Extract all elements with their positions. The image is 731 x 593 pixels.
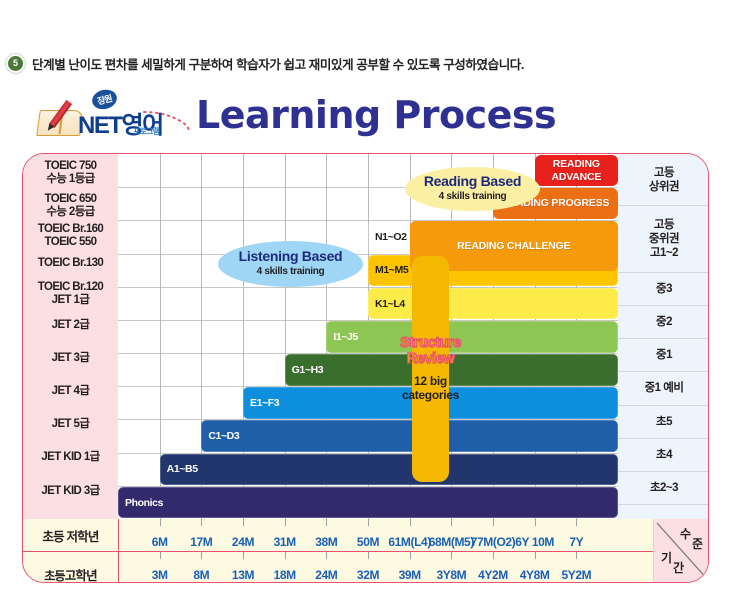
- x-axis-rows: 초등 저학년 6M17M24M31M38M50M61M(L4)68M(M5)77…: [23, 519, 709, 583]
- right-axis-label-5: 중1: [618, 338, 709, 371]
- left-axis-label-line: JET 4급: [52, 385, 90, 398]
- left-axis-label-line: TOEIC Br.130: [38, 257, 103, 270]
- notice-bar: 5 단계별 난이도 편차를 세밀하게 구분하여 학습자가 쉽고 재미있게 공부할…: [0, 48, 731, 78]
- chart-bar-a1-b5[interactable]: A1~B5: [160, 454, 618, 486]
- chart-bar-c1-d3[interactable]: C1~D3: [201, 420, 618, 452]
- notice-text: 단계별 난이도 편차를 세밀하게 구분하여 학습자가 쉽고 재미있게 공부할 수…: [32, 54, 524, 73]
- chart-bar-label: C1~D3: [201, 430, 239, 442]
- axis-tick: [576, 519, 577, 526]
- axis-tick: [160, 519, 161, 526]
- bubble-subtitle: 4 skills training: [257, 264, 325, 279]
- right-axis-labels: 고등상위권고등중위권고1~2중3중2중1중1 예비초5초4초2~3초1: [618, 154, 709, 519]
- axis-tick: [368, 552, 369, 559]
- right-axis-label-4: 중2: [618, 305, 709, 338]
- chart-bar-label: N1~O2: [368, 231, 407, 243]
- axis-tick: [451, 519, 452, 526]
- corner-label-gi: 기: [661, 549, 672, 566]
- left-axis-label-line: JET 1급: [52, 294, 90, 307]
- structure-review-title-line1: Structure: [400, 335, 461, 351]
- learning-process-chart: TOEIC 750수능 1등급TOEIC 650수능 2등급TOEIC Br.1…: [22, 153, 709, 583]
- title-bar: 장원 NET영어 프로그램 Learning Process: [0, 88, 731, 146]
- right-axis-label-line: 상위권: [649, 180, 679, 194]
- structure-review-title: StructureReview: [400, 335, 461, 367]
- right-axis-label-6: 중1 예비: [618, 371, 709, 404]
- chart-bar-label: E1~F3: [243, 397, 279, 409]
- left-axis-label-6: JET 2급: [23, 309, 118, 341]
- left-axis-labels: TOEIC 750수능 1등급TOEIC 650수능 2등급TOEIC Br.1…: [23, 154, 118, 519]
- left-axis-label-5: TOEIC Br.120JET 1급: [23, 278, 118, 310]
- structure-review-subtitle-line2: categories: [402, 388, 459, 402]
- corner-label-su: 수: [680, 525, 691, 542]
- right-axis-label-8: 초4: [618, 438, 709, 471]
- right-axis-label-1: 고등상위권: [618, 154, 709, 205]
- right-axis-label-line: 고1~2: [650, 246, 678, 260]
- left-axis-label-line: TOEIC 650: [45, 193, 97, 206]
- reading-block-reading-advance[interactable]: READINGADVANCE: [535, 155, 618, 186]
- x-axis-row-lower-elementary: 초등 저학년 6M17M24M31M38M50M61M(L4)68M(M5)77…: [23, 519, 709, 551]
- logo-net-text: NET: [78, 112, 122, 139]
- chart-bar-k1-l4[interactable]: K1~L4: [368, 288, 618, 320]
- axis-tick: [201, 552, 202, 559]
- left-axis-label-8: JET 4급: [23, 376, 118, 408]
- structure-review-subtitle-line1: 12 big: [414, 374, 447, 388]
- left-axis-label-11: JET KID 3급: [23, 475, 118, 507]
- right-axis-label-line: 초5: [656, 415, 672, 429]
- axis-tick: [243, 552, 244, 559]
- axis-value-r2-c11: 5Y2M: [543, 559, 609, 583]
- structure-review-subtitle: 12 bigcategories: [402, 374, 459, 402]
- axis-tick: [285, 519, 286, 526]
- bubble-title: Listening Based: [239, 249, 343, 264]
- axis-tick: [535, 519, 536, 526]
- right-axis-label-line: 고등: [654, 218, 674, 232]
- axis-tick: [243, 519, 244, 526]
- left-axis-label-line: TOEIC Br.120: [38, 281, 103, 294]
- left-axis-label-line: JET KID 1급: [41, 451, 99, 464]
- right-axis-label-line: 중2: [656, 315, 672, 329]
- chart-bar-label: M1~M5: [368, 264, 408, 276]
- left-axis-label-line: TOEIC 750: [45, 160, 97, 173]
- axis-row-label-2: 초등고학년: [23, 552, 118, 583]
- right-axis-label-line: 중1 예비: [645, 381, 684, 395]
- right-axis-label-line: 중3: [656, 282, 672, 296]
- axis-tick: [160, 552, 161, 559]
- chart-bar-label: K1~L4: [368, 298, 405, 310]
- left-axis-label-4: TOEIC Br.130: [23, 248, 118, 280]
- axis-tick: [493, 519, 494, 526]
- axis-tick: [326, 552, 327, 559]
- listening-based-bubble: Listening Based4 skills training: [218, 241, 363, 287]
- x-axis-row-upper-elementary: 초등고학년 3M8M13M18M24M32M39M3Y8M4Y2M4Y8M5Y2…: [23, 551, 709, 583]
- right-axis-label-3: 중3: [618, 272, 709, 305]
- axis-separator: [118, 552, 119, 583]
- left-axis-label-line: JET 5급: [52, 418, 90, 431]
- axis-tick: [368, 519, 369, 526]
- right-axis-label-line: 초2~3: [650, 481, 678, 495]
- chart-bar-label: Phonics: [118, 497, 163, 509]
- axis-tick: [285, 552, 286, 559]
- reading-based-bubble: Reading Based4 skills training: [405, 167, 540, 211]
- left-axis-label-10: JET KID 1급: [23, 442, 118, 474]
- left-axis-label-line: JET 2급: [52, 319, 90, 332]
- axis-tick: [326, 519, 327, 526]
- left-axis-label-9: JET 5급: [23, 409, 118, 441]
- right-axis-label-2: 고등중위권고1~2: [618, 205, 709, 271]
- corner-label-jun: 준: [692, 535, 703, 552]
- chart-bar-label: G1~H3: [285, 364, 324, 376]
- right-axis-label-line: 초4: [656, 448, 672, 462]
- chart-bar-i1-j5[interactable]: I1~J5: [326, 321, 618, 353]
- axis-row-label-2-line2: 고학년: [65, 565, 97, 583]
- corner-label-gan: 간: [673, 559, 684, 576]
- left-axis-label-line: JET 3급: [52, 352, 90, 365]
- axis-tick: [451, 552, 452, 559]
- right-axis-label-9: 초2~3: [618, 471, 709, 504]
- dotted-connector-icon: [142, 110, 198, 134]
- right-axis-label-7: 초5: [618, 405, 709, 438]
- axis-tick: [576, 552, 577, 559]
- structure-review-title-line2: Review: [407, 351, 455, 367]
- chart-bar-label: I1~J5: [326, 331, 358, 343]
- left-axis-label-line: JET KID 3급: [41, 485, 99, 498]
- axis-row-label-2-line1: 초등: [44, 567, 64, 583]
- bubble-subtitle: 4 skills training: [439, 189, 507, 204]
- axis-corner-box: 수 준 기 간: [653, 519, 709, 583]
- left-axis-label-3: TOEIC Br.160TOEIC 550: [23, 220, 118, 252]
- plot-area: PhonicsA1~B5C1~D3E1~F3G1~H3I1~J5K1~L4M1~…: [118, 154, 618, 519]
- axis-tick: [410, 519, 411, 526]
- right-axis-label-line: 고등: [654, 166, 674, 180]
- axis-tick: [493, 552, 494, 559]
- axis-tick: [535, 552, 536, 559]
- axis-tick: [410, 552, 411, 559]
- left-axis-label-line: 수능 1등급: [46, 173, 94, 186]
- left-axis-label-line: TOEIC 550: [45, 236, 97, 249]
- left-axis-label-line: TOEIC Br.160: [38, 223, 103, 236]
- chart-bar-n1-o2-label-chip: N1~O2: [368, 221, 410, 252]
- bubble-title: Reading Based: [424, 174, 521, 189]
- axis-row-label-1: 초등 저학년: [23, 519, 118, 551]
- axis-separator: [118, 519, 119, 551]
- chart-bar-phonics[interactable]: Phonics: [118, 487, 618, 519]
- left-axis-label-7: JET 3급: [23, 343, 118, 375]
- right-axis-label-line: 중위권: [649, 232, 679, 246]
- bullet-number-icon: 5: [8, 56, 23, 71]
- right-axis-label-line: 중1: [656, 348, 672, 362]
- axis-tick: [201, 519, 202, 526]
- left-axis-label-line: 수능 2등급: [46, 206, 94, 219]
- chart-bar-label: A1~B5: [160, 463, 198, 475]
- structure-review-column[interactable]: StructureReview12 bigcategories: [412, 256, 450, 482]
- page-title: Learning Process: [196, 91, 556, 139]
